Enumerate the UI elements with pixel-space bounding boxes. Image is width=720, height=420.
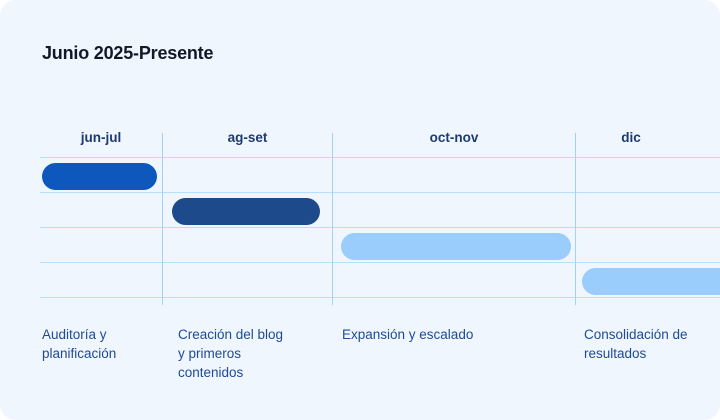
column-header-ag-set: ag-set (163, 130, 332, 145)
gantt-bar-auditoria[interactable] (42, 163, 157, 190)
task-caption-auditoria: Auditoría y planificación (42, 325, 160, 363)
gantt-bar-consolidacion[interactable] (582, 268, 720, 295)
gantt-bar-creacion-blog[interactable] (172, 198, 320, 225)
grid-line-horizontal (40, 157, 720, 158)
page-title: Junio 2025-Presente (42, 43, 213, 64)
grid-line-horizontal (40, 262, 720, 263)
task-caption-consolidacion: Consolidación de resultados (584, 325, 704, 363)
chart-plot-area: jun-jul ag-set oct-nov dic (0, 130, 720, 305)
grid-line-horizontal (40, 227, 720, 228)
grid-line-vertical (162, 133, 163, 305)
column-header-oct-nov: oct-nov (333, 130, 575, 145)
grid-line-vertical (332, 133, 333, 305)
task-caption-expansion: Expansión y escalado (342, 325, 562, 344)
grid-line-horizontal (40, 192, 720, 193)
grid-line-vertical (575, 133, 576, 305)
grid-line-horizontal (40, 297, 720, 298)
gantt-bar-expansion[interactable] (341, 233, 571, 260)
gantt-chart-card: Junio 2025-Presente jun-jul ag-set oct-n… (0, 0, 720, 420)
column-header-jun-jul: jun-jul (40, 130, 162, 145)
task-caption-creacion-blog: Creación del blog y primeros contenidos (178, 325, 288, 382)
column-header-dic: dic (576, 130, 686, 145)
